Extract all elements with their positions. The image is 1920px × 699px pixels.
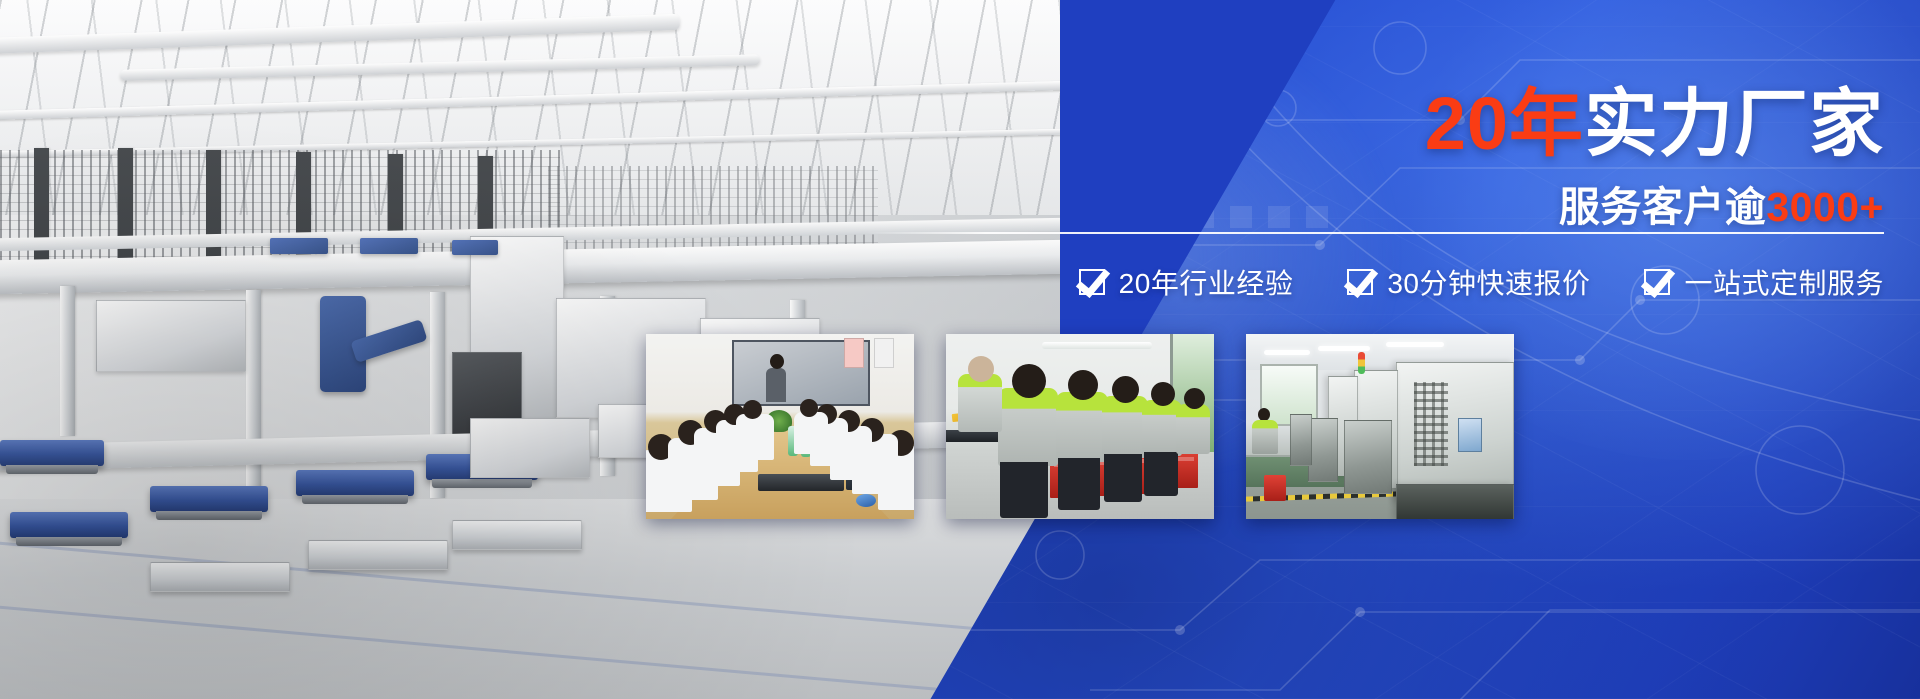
pallet [452, 520, 582, 550]
pallet [150, 562, 290, 592]
checkbox-checked-icon [1644, 269, 1670, 295]
worker-legs [1104, 454, 1142, 502]
machine-control-panel [1458, 418, 1482, 452]
worker-head [1068, 370, 1098, 400]
workstation [470, 418, 590, 478]
ceiling-tube-light [1386, 342, 1444, 347]
hero-divider [864, 232, 1884, 234]
subtitle-prefix: 服务客户逾 [1559, 184, 1767, 230]
machine-base [1396, 484, 1514, 519]
attendee [794, 412, 828, 454]
worker-head [1112, 376, 1139, 403]
worker-legs [1000, 462, 1048, 518]
machine-enclosure [1308, 418, 1338, 482]
subtitle-highlight: 3000+ [1766, 184, 1884, 230]
blue-trolley [360, 238, 418, 254]
thumbnail-gallery [646, 334, 1514, 519]
checkbox-checked-icon [1079, 269, 1105, 295]
feature-item-quote[interactable]: 30分钟快速报价 [1347, 262, 1590, 302]
agv-cart [296, 470, 414, 496]
worker [1176, 404, 1210, 454]
feature-label: 20年行业经验 [1119, 262, 1294, 302]
hero-copy: 20年实力厂家 服务客户逾3000+ [1124, 86, 1884, 233]
wall-poster [844, 338, 864, 368]
wall-poster [874, 338, 894, 368]
headline-rest: 实力厂家 [1584, 82, 1884, 165]
red-stool [1264, 475, 1286, 501]
worker-legs [1058, 458, 1100, 510]
operator [1252, 420, 1278, 454]
feature-list: 20年行业经验 30分钟快速报价 一站式定制服务 [1079, 262, 1884, 302]
ceiling-tube-light [1318, 346, 1370, 351]
headline-highlight: 20年 [1425, 82, 1584, 165]
assembly-line-photo[interactable] [946, 334, 1214, 519]
agv-cart [150, 486, 268, 512]
machine-enclosure [1290, 414, 1312, 466]
feature-label: 一站式定制服务 [1684, 262, 1884, 302]
worker [1056, 392, 1108, 462]
meeting-room-photo[interactable] [646, 334, 914, 519]
worker [998, 388, 1058, 466]
attendee-head [743, 400, 762, 419]
equipment-cabinet [96, 300, 246, 372]
machine-vents [1414, 382, 1448, 466]
checkbox-checked-icon [1347, 269, 1373, 295]
attendee [736, 414, 774, 460]
presenter-head [770, 354, 784, 369]
support-column [60, 286, 75, 436]
pallet [308, 540, 448, 570]
presenter [766, 368, 786, 402]
cage-post [34, 148, 49, 274]
signal-tower-light [1358, 352, 1365, 374]
agv-cart [10, 512, 128, 538]
page-title: 20年实力厂家 [1124, 86, 1884, 161]
blue-trolley [270, 238, 328, 254]
feature-item-customization[interactable]: 一站式定制服务 [1644, 262, 1884, 302]
cnc-workshop-photo[interactable] [1246, 334, 1514, 519]
blue-trolley [452, 240, 498, 255]
worker-head [1151, 382, 1175, 406]
supervisor [958, 374, 1002, 432]
ceiling-tube-light [1264, 350, 1310, 355]
feature-label: 30分钟快速报价 [1387, 262, 1590, 302]
hero-banner: 20年实力厂家 服务客户逾3000+ 20年行业经验 30分钟快速报价 一站式定… [0, 0, 1920, 699]
machine-enclosure [1344, 420, 1392, 494]
supervisor-head [968, 356, 994, 382]
ceiling-lamp [1042, 342, 1152, 349]
worker-legs [1144, 452, 1178, 496]
attendee-head [800, 399, 818, 417]
worker-head [1012, 364, 1046, 398]
computer-mouse [856, 494, 876, 507]
hero-subtitle: 服务客户逾3000+ [1124, 173, 1884, 233]
worker-head [1184, 388, 1205, 409]
cage-post [118, 148, 133, 274]
agv-cart [0, 440, 104, 466]
feature-item-experience[interactable]: 20年行业经验 [1079, 262, 1294, 302]
